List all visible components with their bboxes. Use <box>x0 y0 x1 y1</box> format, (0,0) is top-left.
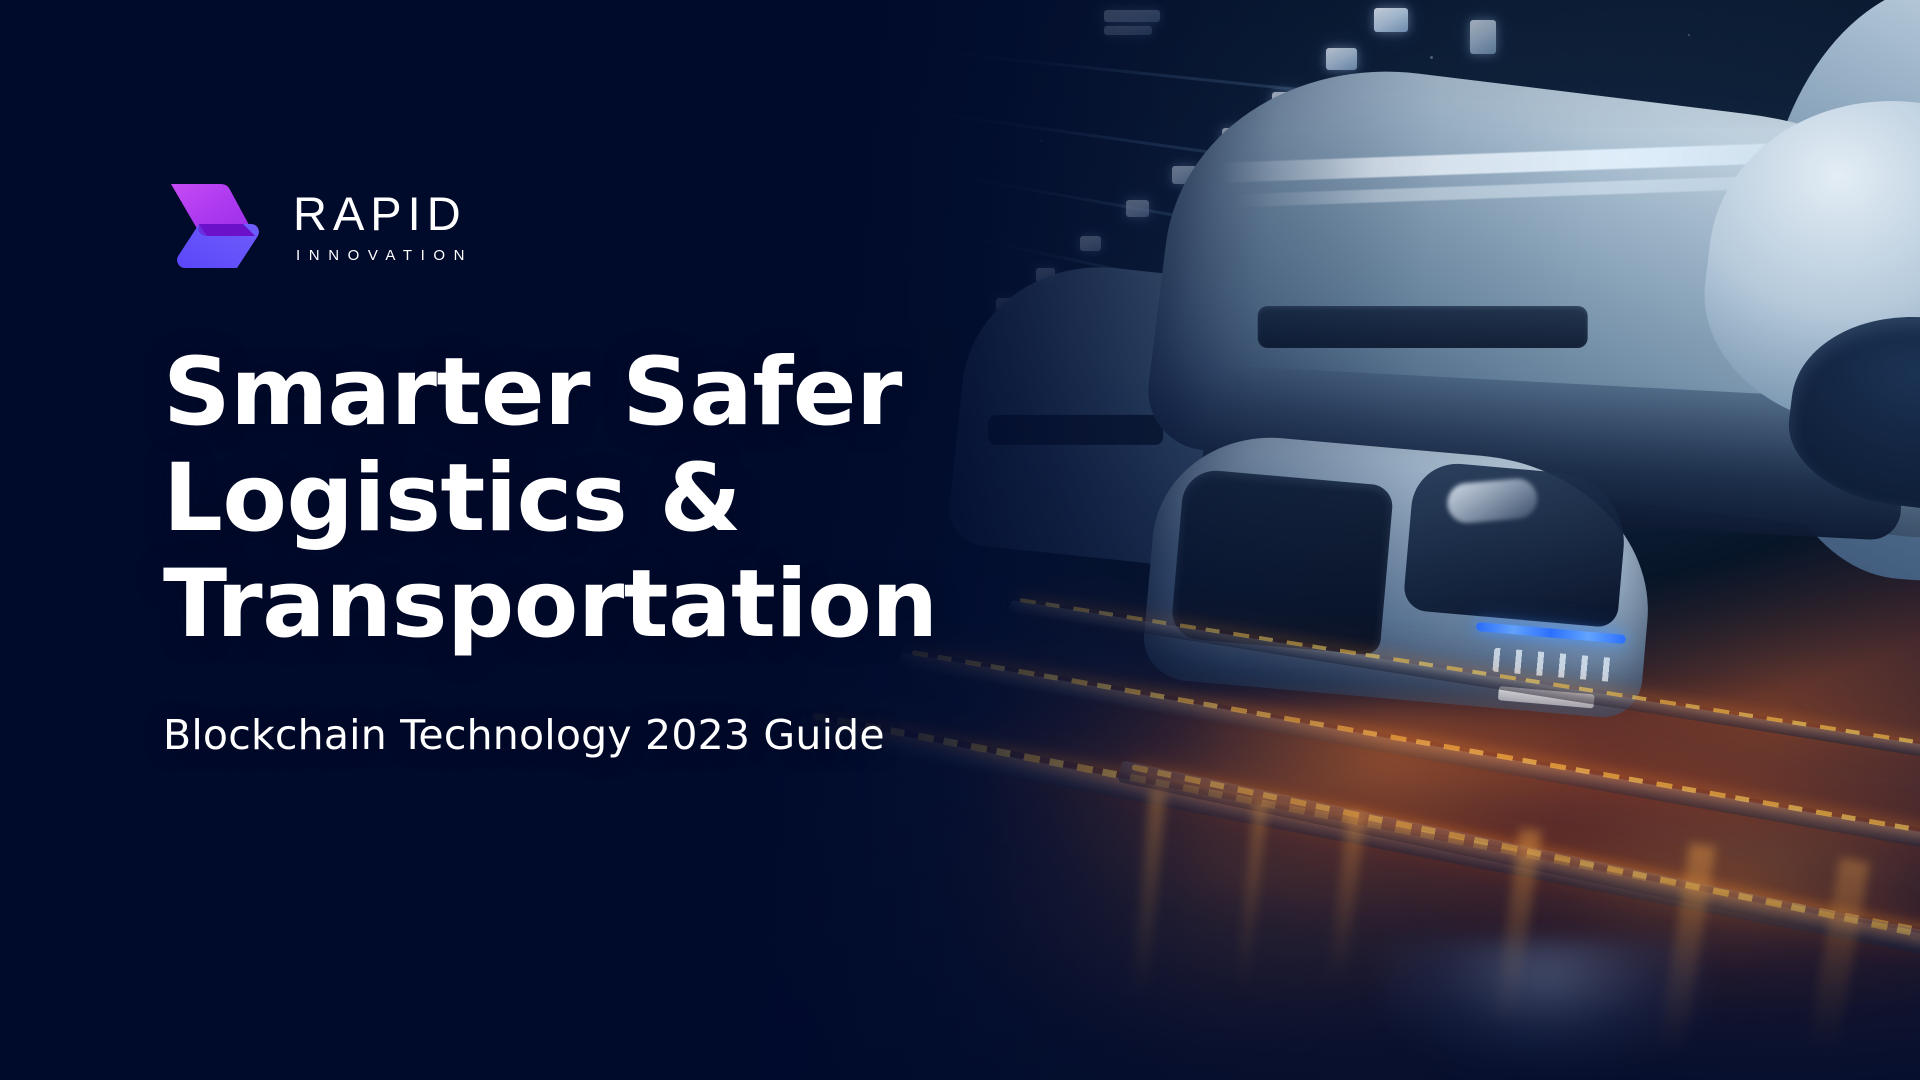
hero-subheadline: Blockchain Technology 2023 Guide <box>163 711 1100 759</box>
hero-banner: RAPID INNOVATION Smarter Safer Logistics… <box>0 0 1920 1080</box>
headline-line-3: Transportation <box>163 552 1100 658</box>
hero-content: RAPID INNOVATION Smarter Safer Logistics… <box>0 0 1100 1080</box>
rapid-chevron-logo-icon <box>163 180 267 272</box>
brand-wordmark: RAPID INNOVATION <box>293 190 473 263</box>
brand-name: RAPID <box>293 190 473 237</box>
floor-cool-reflection <box>1380 940 1710 1070</box>
brand-tagline: INNOVATION <box>293 248 473 263</box>
hero-headline: Smarter Safer Logistics & Transportation <box>163 340 1100 659</box>
headline-line-1: Smarter Safer <box>163 340 1100 446</box>
headline-line-2: Logistics & <box>163 446 1100 552</box>
brand-logo-lockup[interactable]: RAPID INNOVATION <box>163 180 1100 272</box>
